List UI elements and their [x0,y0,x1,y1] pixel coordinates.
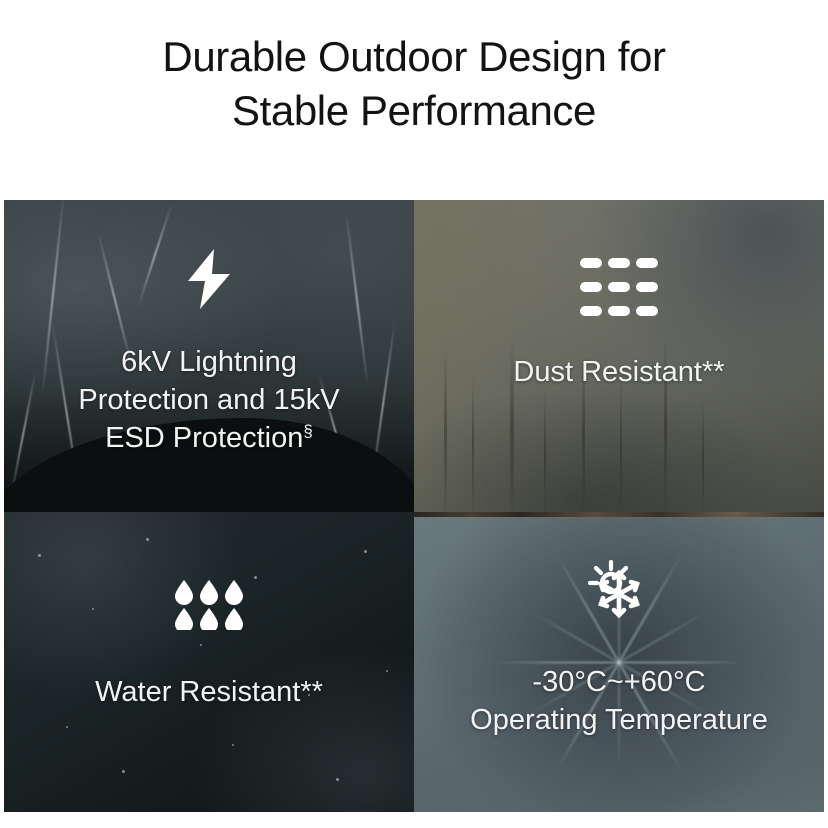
feature-label-superscript: § [303,421,312,440]
feature-card-operating-temperature: -30°C~+60°C Operating Temperature [414,512,824,812]
feature-label-dust-resistant: Dust Resistant** [499,353,738,391]
feature-label-line-3: ESD Protection [105,422,303,454]
feature-label-line-2: Protection and 15kV [78,384,339,416]
feature-label-operating-temperature: -30°C~+60°C Operating Temperature [456,663,782,739]
feature-label-line-1: -30°C~+60°C [532,666,705,698]
water-droplets-icon [174,580,244,635]
sun-snowflake-icon [588,560,650,627]
feature-card-water-resistant: Water Resistant** [4,512,414,812]
dust-grid-icon [580,258,658,321]
page-title-line-2: Stable Performance [0,84,828,138]
feature-card-lightning-protection: 6kV Lightning Protection and 15kV ESD Pr… [4,200,414,512]
feature-card-dust-resistant: Dust Resistant** [414,200,824,512]
feature-grid: 6kV Lightning Protection and 15kV ESD Pr… [4,200,824,812]
lightning-bolt-icon [181,248,237,315]
page-title-line-1: Durable Outdoor Design for [0,30,828,84]
feature-label-line-1: Dust Resistant** [513,356,724,388]
product-feature-page: Durable Outdoor Design for Stable Perfor… [0,0,828,828]
feature-label-line-1: 6kV Lightning [121,346,297,378]
feature-label-line-1: Water Resistant** [95,676,323,708]
feature-label-line-2: Operating Temperature [470,704,768,736]
feature-label-water-resistant: Water Resistant** [81,673,337,711]
feature-label-lightning-protection: 6kV Lightning Protection and 15kV ESD Pr… [64,343,353,457]
page-title: Durable Outdoor Design for Stable Perfor… [0,28,828,138]
